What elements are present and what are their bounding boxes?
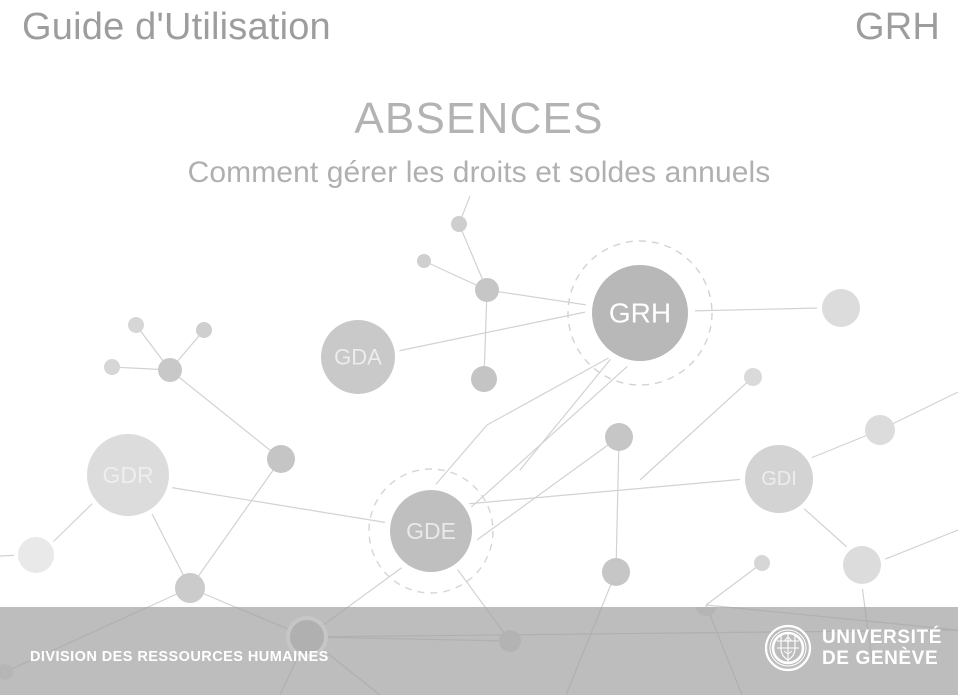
university-logo-text: UNIVERSITÉ DE GENÈVE xyxy=(822,627,942,670)
university-logo: UNIVERSITÉ DE GENÈVE xyxy=(764,624,942,672)
university-seal-icon xyxy=(764,624,812,672)
university-logo-line1: UNIVERSITÉ xyxy=(822,627,942,648)
guide-title: Guide d'Utilisation xyxy=(22,6,331,49)
department-label: DIVISION DES RESSOURCES HUMAINES xyxy=(30,649,329,665)
university-logo-line2: DE GENÈVE xyxy=(822,648,942,669)
node-grh-label: GRH xyxy=(609,298,671,329)
node-gda-label: GDA xyxy=(334,345,382,370)
slide-header: Guide d'Utilisation GRH xyxy=(0,0,958,64)
node-gdi: GDI xyxy=(740,440,818,518)
slide: GDR GDA GDI GDE GRH Gui xyxy=(0,0,958,695)
module-code: GRH xyxy=(855,6,940,49)
node-gda: GDA xyxy=(316,315,400,399)
node-grh: GRH xyxy=(568,241,712,385)
page-title: ABSENCES xyxy=(0,96,958,142)
page-subtitle: Comment gérer les droits et soldes annue… xyxy=(0,156,958,189)
slide-footer: DIVISION DES RESSOURCES HUMAINES xyxy=(0,607,958,695)
node-gde: GDE xyxy=(369,469,493,593)
node-gdr: GDR xyxy=(82,429,174,521)
node-gdr-label: GDR xyxy=(102,462,153,488)
title-block: ABSENCES Comment gérer les droits et sol… xyxy=(0,96,958,189)
node-gde-label: GDE xyxy=(406,518,456,544)
node-gdi-label: GDI xyxy=(761,468,797,490)
